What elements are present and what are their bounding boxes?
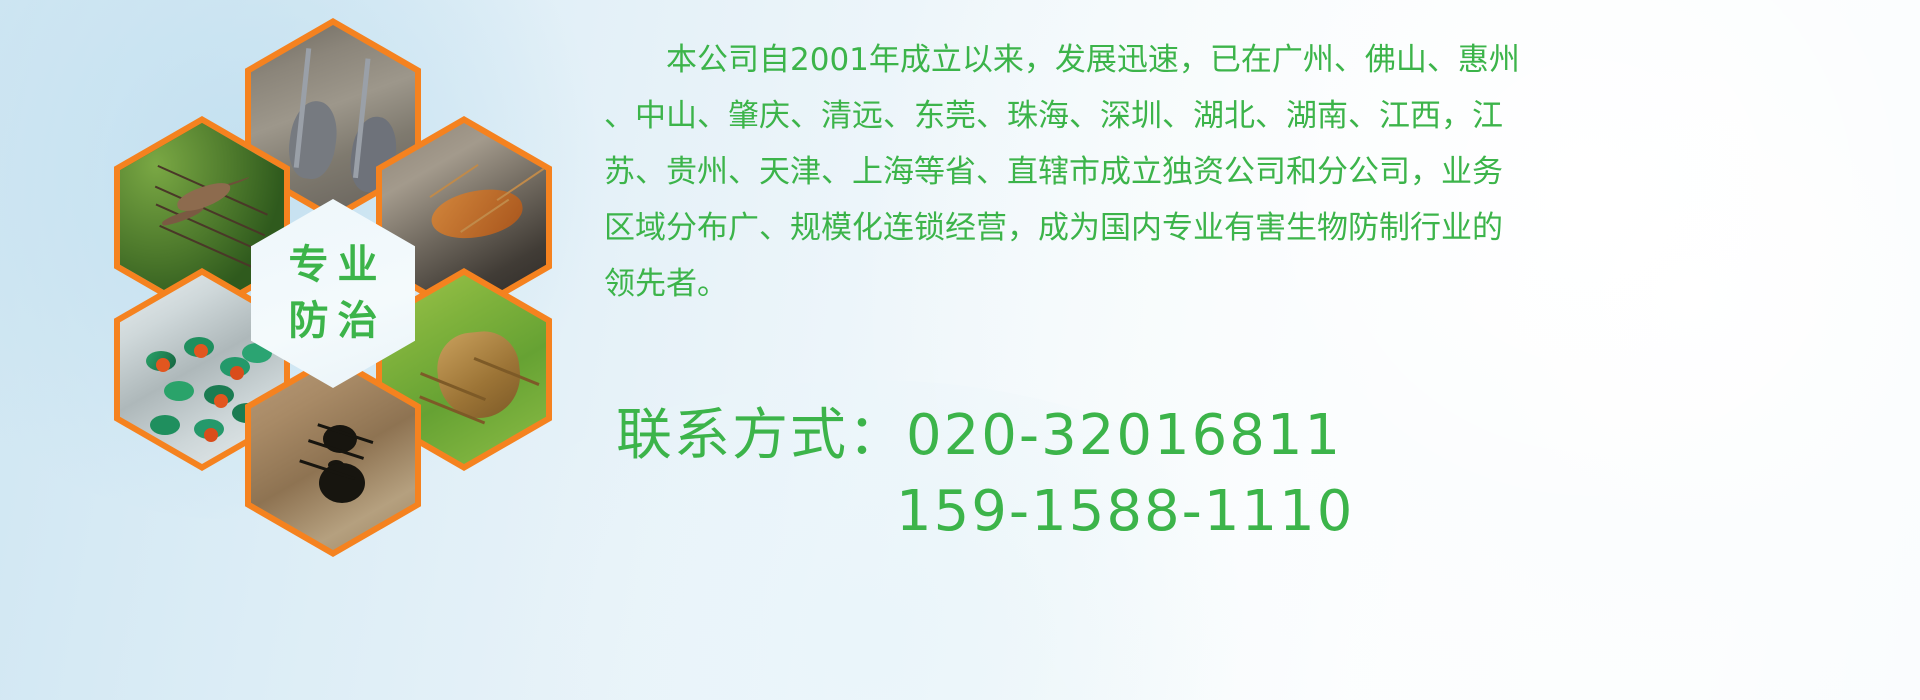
hex-inner-slogan: 专业 防治 xyxy=(251,199,415,388)
intro-line-4: 区域分布广、规模化连锁经营，成为国内专业有害生物防制行业的 xyxy=(604,200,1604,256)
intro-line-5: 领先者。 xyxy=(604,256,1604,312)
contact-block: 联系方式：020-32016811 159-1588-1110 xyxy=(616,398,1716,550)
contact-secondary-line[interactable]: 159-1588-1110 xyxy=(616,474,1716,550)
promo-banner: 专业 防治 本公司自2001年成立以来，发展迅速，已在广州、佛山、惠州 、中山、… xyxy=(0,0,1920,700)
slogan-line-1: 专业 xyxy=(280,238,387,293)
intro-line-1: 本公司自2001年成立以来，发展迅速，已在广州、佛山、惠州 xyxy=(604,32,1604,88)
intro-line-3: 苏、贵州、天津、上海等省、直辖市成立独资公司和分公司，业务 xyxy=(604,144,1604,200)
hexagon-collage: 专业 防治 xyxy=(78,4,598,556)
slogan-line-2: 防治 xyxy=(280,294,387,349)
intro-line-2: 、中山、肇庆、清远、东莞、珠海、深圳、湖北、湖南、江西，江 xyxy=(604,88,1604,144)
contact-primary-line[interactable]: 联系方式：020-32016811 xyxy=(616,398,1716,474)
intro-paragraph: 本公司自2001年成立以来，发展迅速，已在广州、佛山、惠州 、中山、肇庆、清远、… xyxy=(604,32,1604,312)
